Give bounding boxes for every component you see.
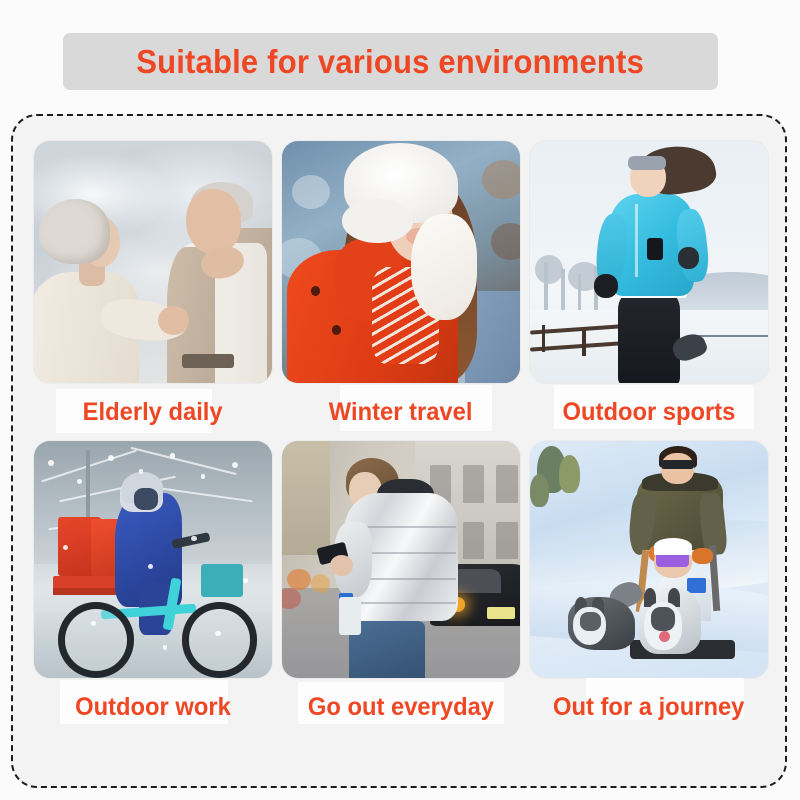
photo-outdoor-sports — [530, 141, 768, 383]
scenario-label: Outdoor work — [75, 693, 231, 722]
page-title: Suitable for various environments — [137, 43, 645, 81]
scenario-label: Elderly daily — [83, 398, 223, 427]
scenario-label: Outdoor sports — [563, 398, 736, 427]
scenario-image-out-for-a-journey[interactable] — [530, 441, 768, 678]
scenario-image-go-out-everyday[interactable] — [282, 441, 520, 678]
scenario-cell-out-for-a-journey[interactable]: Out for a journey — [530, 441, 768, 736]
scenario-cell-outdoor-work[interactable]: Outdoor work — [34, 441, 272, 736]
scenario-label: Winter travel — [329, 398, 473, 427]
scenario-label: Out for a journey — [553, 693, 744, 722]
photo-go-out-everyday — [282, 441, 520, 678]
scenario-image-winter-travel[interactable] — [282, 141, 520, 383]
scenario-cell-go-out-everyday[interactable]: Go out everyday — [282, 441, 520, 736]
product-infographic-page: Suitable for various environments — [0, 0, 800, 800]
photo-elderly-couple — [34, 141, 272, 383]
scenario-caption-elderly-daily: Elderly daily — [34, 383, 272, 441]
scenario-caption-outdoor-work: Outdoor work — [34, 678, 272, 736]
scenario-grid: Elderly daily — [34, 141, 768, 736]
scenario-cell-elderly-daily[interactable]: Elderly daily — [34, 141, 272, 441]
scenario-image-outdoor-work[interactable] — [34, 441, 272, 678]
scenario-label: Go out everyday — [308, 693, 494, 722]
scenario-image-outdoor-sports[interactable] — [530, 141, 768, 383]
title-banner: Suitable for various environments — [63, 33, 718, 90]
scenario-image-elderly-daily[interactable] — [34, 141, 272, 383]
scenario-cell-winter-travel[interactable]: Winter travel — [282, 141, 520, 441]
scenario-caption-go-out-everyday: Go out everyday — [282, 678, 520, 736]
photo-out-for-a-journey — [530, 441, 768, 678]
scenario-caption-winter-travel: Winter travel — [282, 383, 520, 441]
photo-winter-travel — [282, 141, 520, 383]
scenario-caption-out-for-a-journey: Out for a journey — [530, 678, 768, 736]
scenario-cell-outdoor-sports[interactable]: Outdoor sports — [530, 141, 768, 441]
scenario-caption-outdoor-sports: Outdoor sports — [530, 383, 768, 441]
photo-outdoor-work — [34, 441, 272, 678]
